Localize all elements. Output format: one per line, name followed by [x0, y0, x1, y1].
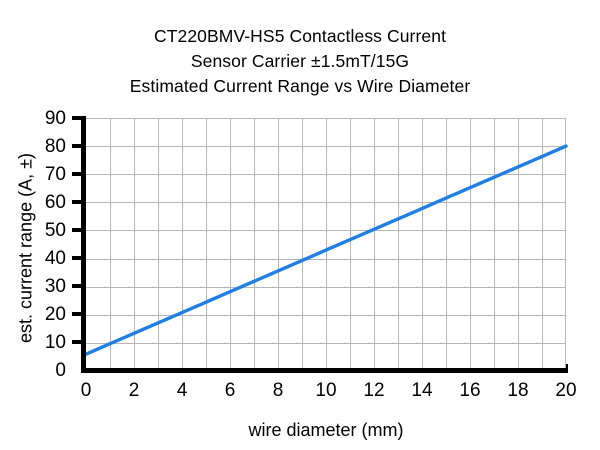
chart-title: CT220BMV-HS5 Contactless Current Sensor … [0, 24, 600, 99]
axis-spine-left [81, 116, 86, 373]
x-tick-label-4: 4 [160, 381, 204, 400]
x-tick-label-14: 14 [400, 381, 444, 400]
x-tick-label-0: 0 [64, 381, 108, 400]
x-axis-label: wire diameter (mm) [86, 419, 566, 441]
x-tick-label-18: 18 [496, 381, 540, 400]
data-series-svg [86, 118, 566, 371]
x-tick-label-2: 2 [112, 381, 156, 400]
x-tick-label-20: 20 [544, 381, 588, 400]
x-tick-label-12: 12 [352, 381, 396, 400]
series-line-estimated-current-range [86, 146, 566, 354]
y-axis-label: est. current range (A, ±) [15, 122, 37, 375]
axis-spine-bottom [81, 368, 568, 373]
x-tick-label-10: 10 [304, 381, 348, 400]
chart-figure: CT220BMV-HS5 Contactless Current Sensor … [0, 0, 600, 450]
x-tick-label-16: 16 [448, 381, 492, 400]
x-tick-label-6: 6 [208, 381, 252, 400]
x-tick-label-8: 8 [256, 381, 300, 400]
plot-area [86, 118, 566, 371]
